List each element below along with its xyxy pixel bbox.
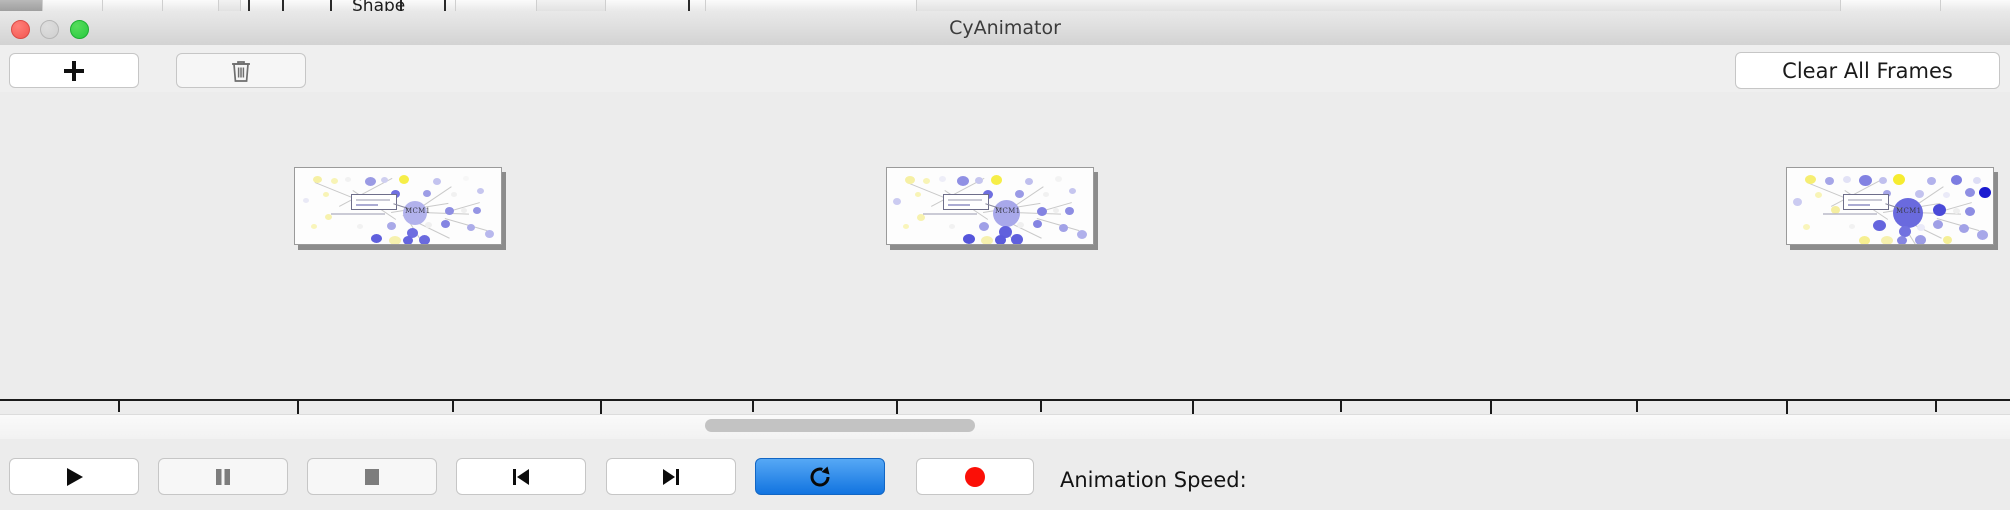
timeline-panel[interactable]: MCM1: [0, 92, 2010, 414]
stop-icon: [362, 467, 382, 487]
timeline-scrollbar-track[interactable]: [0, 414, 2010, 440]
ruler-tick-minor: [1040, 401, 1042, 412]
frame-thumbnail[interactable]: MCM1: [294, 167, 502, 245]
skip-forward-icon: [660, 467, 682, 487]
timeline-ruler: [0, 399, 2010, 401]
clear-all-frames-button[interactable]: Clear All Frames: [1735, 52, 2000, 89]
pause-button[interactable]: [158, 458, 288, 495]
window-title: CyAnimator: [0, 11, 2010, 45]
ruler-tick-minor: [1340, 401, 1342, 412]
hub-node-label: MCM1: [405, 207, 430, 215]
window-title-bar: CyAnimator: [0, 11, 2010, 46]
record-icon: [964, 466, 986, 488]
ruler-tick-minor: [1636, 401, 1638, 412]
animation-speed-label: Animation Speed:: [1060, 468, 1247, 492]
ruler-tick-minor: [752, 401, 754, 412]
network-graph-thumbnail: MCM1: [1786, 167, 1994, 245]
annotation-callout: [351, 194, 397, 210]
network-graph-thumbnail: MCM1: [886, 167, 1094, 245]
loop-button[interactable]: [755, 458, 885, 495]
play-button[interactable]: [9, 458, 139, 495]
skip-backward-icon: [510, 467, 532, 487]
clear-all-frames-label: Clear All Frames: [1782, 59, 1953, 83]
ruler-tick-minor: [118, 401, 120, 412]
record-button[interactable]: [916, 458, 1034, 495]
hub-node-label: MCM1: [995, 207, 1020, 215]
ruler-tick-minor: [1935, 401, 1937, 412]
delete-frame-button[interactable]: [176, 53, 306, 88]
annotation-callout: [1843, 194, 1889, 210]
frame-toolbar: Clear All Frames: [0, 45, 2010, 93]
ruler-tick-minor: [452, 401, 454, 412]
cyanimator-window: Shape CyAnimator Clear A: [0, 0, 2010, 510]
play-icon: [63, 466, 85, 488]
loop-icon: [808, 465, 832, 489]
timeline-scrollbar-thumb[interactable]: [705, 419, 975, 432]
frame-thumbnail[interactable]: MCM1: [886, 167, 1094, 245]
trash-icon: [230, 59, 252, 83]
pause-icon: [213, 467, 233, 487]
add-frame-button[interactable]: [9, 53, 139, 88]
network-graph-thumbnail: MCM1: [294, 167, 502, 245]
transport-bar: Animation Speed:: [0, 439, 2010, 510]
stop-button[interactable]: [307, 458, 437, 495]
last-frame-button[interactable]: [606, 458, 736, 495]
hub-node-label: MCM1: [1896, 207, 1921, 215]
plus-icon: [62, 59, 86, 83]
first-frame-button[interactable]: [456, 458, 586, 495]
frame-thumbnail[interactable]: MCM1: [1786, 167, 1994, 245]
annotation-callout: [943, 194, 989, 210]
